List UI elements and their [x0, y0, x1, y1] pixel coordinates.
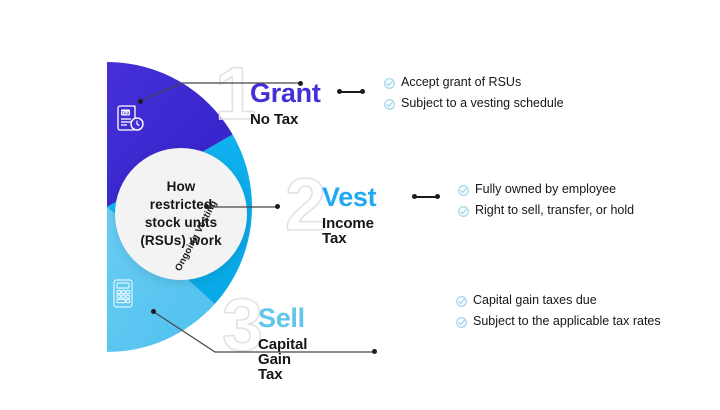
connector-line-vest — [205, 203, 280, 211]
connector-dot-sell-arc — [151, 309, 156, 314]
bullet-item: Subject to a vesting schedule — [384, 96, 564, 112]
title-bullet-connector-vest — [412, 194, 440, 200]
step-bullets-sell: Capital gain taxes due Subject to the ap… — [456, 293, 661, 329]
center-line-4: (RSUs) work — [140, 232, 221, 250]
step-bullets-grant: Accept grant of RSUs Subject to a vestin… — [384, 75, 564, 111]
connector-dot-sell-end — [372, 349, 377, 354]
infographic-canvas: How restricted stock units (RSUs) work T… — [0, 0, 720, 410]
bullet-text: Capital gain taxes due — [473, 293, 597, 309]
step-bullets-vest: Fully owned by employee Right to sell, t… — [458, 182, 634, 218]
bullet-text: Fully owned by employee — [475, 182, 616, 198]
step-subtitle-grant: No Tax — [250, 112, 321, 127]
bullet-item: Accept grant of RSUs — [384, 75, 564, 91]
connector-line-sell — [140, 305, 385, 365]
step-subtitle-vest: Income Tax — [322, 216, 376, 246]
bullet-text: Subject to the applicable tax rates — [473, 314, 661, 330]
step-title-block-vest: Vest Income Tax — [322, 184, 376, 246]
connector-line-grant — [110, 38, 320, 108]
bullet-text: Subject to a vesting schedule — [401, 96, 564, 112]
check-circle-icon — [456, 317, 467, 328]
connector-dot-vest-end — [275, 204, 280, 209]
check-circle-icon — [458, 185, 469, 196]
connector-dot-vest-arc — [204, 204, 209, 209]
step-title-vest: Vest — [322, 184, 376, 211]
bullet-text: Right to sell, transfer, or hold — [475, 203, 634, 219]
check-circle-icon — [456, 296, 467, 307]
title-bullet-connector-grant — [337, 89, 365, 95]
connector-dot-grant-arc — [138, 99, 143, 104]
check-circle-icon — [458, 206, 469, 217]
bullet-item: Fully owned by employee — [458, 182, 634, 198]
center-line-1: How — [140, 178, 221, 196]
bullet-item: Capital gain taxes due — [456, 293, 661, 309]
bullet-item: Subject to the applicable tax rates — [456, 314, 661, 330]
connector-dot-grant-end — [298, 81, 303, 86]
check-circle-icon — [384, 78, 395, 89]
bullet-text: Accept grant of RSUs — [401, 75, 521, 91]
bullet-item: Right to sell, transfer, or hold — [458, 203, 634, 219]
check-circle-icon — [384, 99, 395, 110]
step-number-2: 2 — [285, 168, 326, 242]
